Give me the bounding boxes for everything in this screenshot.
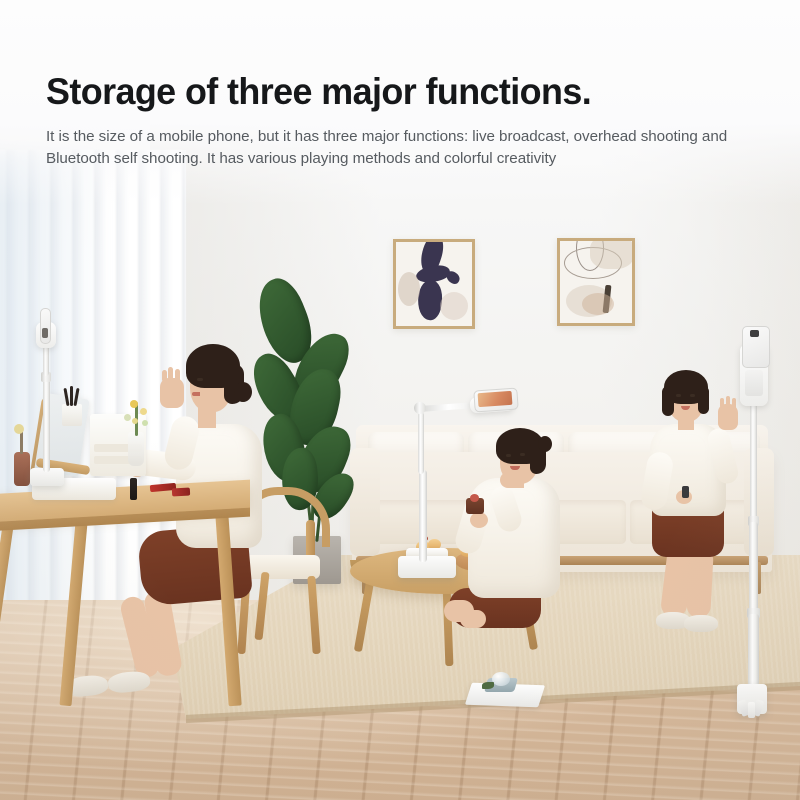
glass-ornament [492,672,510,686]
flower [132,418,138,424]
brush-holder [62,404,82,426]
flower [124,414,131,421]
wall-art-left [393,239,475,329]
hair-side [662,386,674,416]
artwork-canvas [396,242,472,326]
eye [676,394,681,397]
text-overlay: Storage of three major functions. It is … [0,0,800,205]
hand-waving [160,378,184,408]
finger [168,367,173,381]
dessert-topping [470,494,479,502]
artwork-canvas [560,241,632,323]
foot [460,610,486,628]
slipper [684,615,718,632]
leg [686,547,714,618]
art-shape-soft [582,293,614,315]
finger [720,398,724,408]
rod-lower [43,378,50,472]
bluetooth-remote [682,486,689,498]
hair-bun [538,436,552,452]
finger [726,396,730,408]
reed-diffuser [14,452,30,486]
marketing-banner: Storage of three major functions. It is … [0,0,800,800]
hair-side [698,386,709,414]
eye [197,378,203,381]
tripod-leg [748,702,755,718]
eye [690,394,695,397]
rod-section-bottom [748,614,759,686]
vertical-rod-upper [418,412,424,474]
flower-vase [128,432,144,466]
hair-bun [234,382,252,402]
lipstick-black [130,478,137,500]
rod-section-mid [749,522,758,612]
phone-camera [750,330,759,337]
clamp-grip [745,370,763,396]
flower [140,408,147,415]
hand-left [470,512,488,528]
diffuser-bloom [14,424,24,434]
art-shape-soft [440,292,468,320]
art-shape [444,269,462,286]
eye [520,453,525,456]
ornament-leaf [482,682,494,689]
finger [732,398,736,409]
makeup-brush [70,386,73,406]
vertical-rod [419,470,427,562]
chair-seat [240,555,320,579]
phone-screen-preview [478,391,513,407]
tripod-base [398,556,456,578]
flower [142,420,148,426]
mouth [192,392,200,396]
smartphone [40,308,51,344]
rod-section-top [750,400,757,520]
clamp-detail [42,328,48,338]
lipstick-red [172,488,190,497]
flower [130,400,138,408]
wall-art-right [557,238,635,326]
art-shape-soft [398,272,420,306]
finger [162,370,167,382]
sofa-arm-left [350,448,380,556]
page-title: Storage of three major functions. [46,70,591,114]
eye [506,454,511,457]
finger [175,369,180,382]
page-subtitle: It is the size of a mobile phone, but it… [46,126,738,169]
art-shape-soft [590,241,632,269]
arm-pivot [414,402,426,414]
